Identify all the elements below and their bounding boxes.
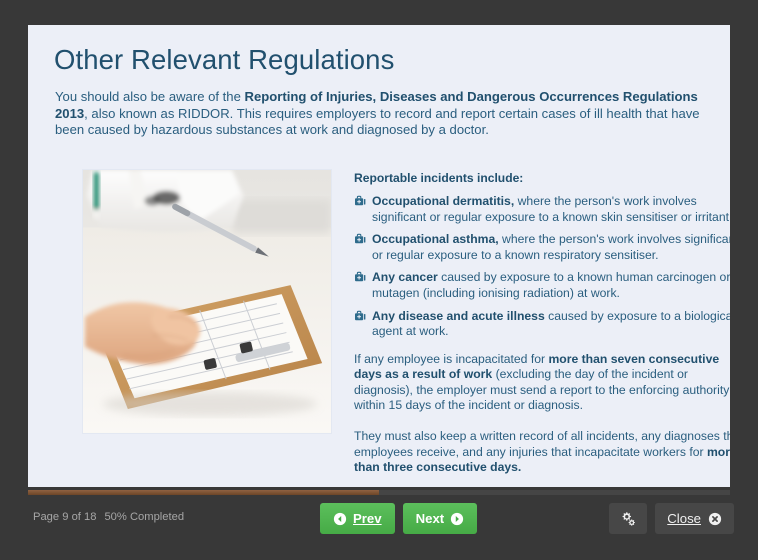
seven-days-text-1: If any employee is incapacitated for — [354, 352, 548, 366]
records-paragraph: They must also keep a written record of … — [354, 429, 730, 475]
prev-button-label: Prev — [353, 511, 382, 526]
intro-paragraph: You should also be aware of the Reportin… — [55, 89, 709, 139]
incident-bold: Occupational dermatitis, — [372, 194, 514, 208]
progress-bar — [28, 490, 730, 495]
doctor-writing-illustration — [83, 170, 331, 433]
close-button-label: Close — [667, 511, 701, 526]
list-item: Any cancer caused by exposure to a known… — [354, 270, 730, 301]
intro-text-2: , also known as RIDDOR. This requires em… — [55, 106, 700, 138]
page-number-label: Page 9 of 18 — [33, 511, 96, 523]
completed-label: 50% Completed — [104, 511, 184, 523]
list-item: Occupational dermatitis, where the perso… — [354, 194, 730, 225]
close-button[interactable]: Close — [655, 503, 734, 534]
incident-bold: Any disease and acute illness — [372, 309, 545, 323]
intro-text-1: You should also be aware of the — [55, 89, 245, 104]
medical-bag-icon — [354, 195, 366, 207]
progress-bar-fill — [28, 490, 379, 495]
gears-icon — [620, 511, 636, 527]
reportable-incidents-section: Reportable incidents include: Occupation… — [354, 171, 730, 476]
list-item: Any disease and acute illness caused by … — [354, 309, 730, 340]
navigation-buttons: Prev Next — [320, 503, 477, 534]
next-button-label: Next — [416, 511, 445, 526]
incident-list: Occupational dermatitis, where the perso… — [354, 194, 730, 340]
elearning-slide-viewer: Other Relevant Regulations You should al… — [0, 0, 758, 560]
clipboard-photo — [82, 169, 332, 434]
list-heading: Reportable incidents include: — [354, 171, 730, 185]
records-text-1: They must also keep a written record of … — [354, 429, 730, 458]
arrow-circle-left-icon — [333, 512, 347, 526]
list-item: Occupational asthma, where the person's … — [354, 232, 730, 263]
incident-bold: Any cancer — [372, 270, 438, 284]
slide-card: Other Relevant Regulations You should al… — [28, 25, 730, 487]
close-circle-icon — [708, 512, 722, 526]
settings-button[interactable] — [609, 503, 647, 534]
medical-bag-icon — [354, 310, 366, 322]
page-title: Other Relevant Regulations — [54, 44, 394, 76]
utility-buttons: Close — [609, 503, 734, 534]
medical-bag-icon — [354, 271, 366, 283]
page-status: Page 9 of 1850% Completed — [33, 511, 184, 523]
seven-days-paragraph: If any employee is incapacitated for mor… — [354, 352, 730, 414]
prev-button[interactable]: Prev — [320, 503, 395, 534]
medical-bag-icon — [354, 233, 366, 245]
incident-bold: Occupational asthma, — [372, 232, 499, 246]
next-button[interactable]: Next — [403, 503, 478, 534]
arrow-circle-right-icon — [450, 512, 464, 526]
